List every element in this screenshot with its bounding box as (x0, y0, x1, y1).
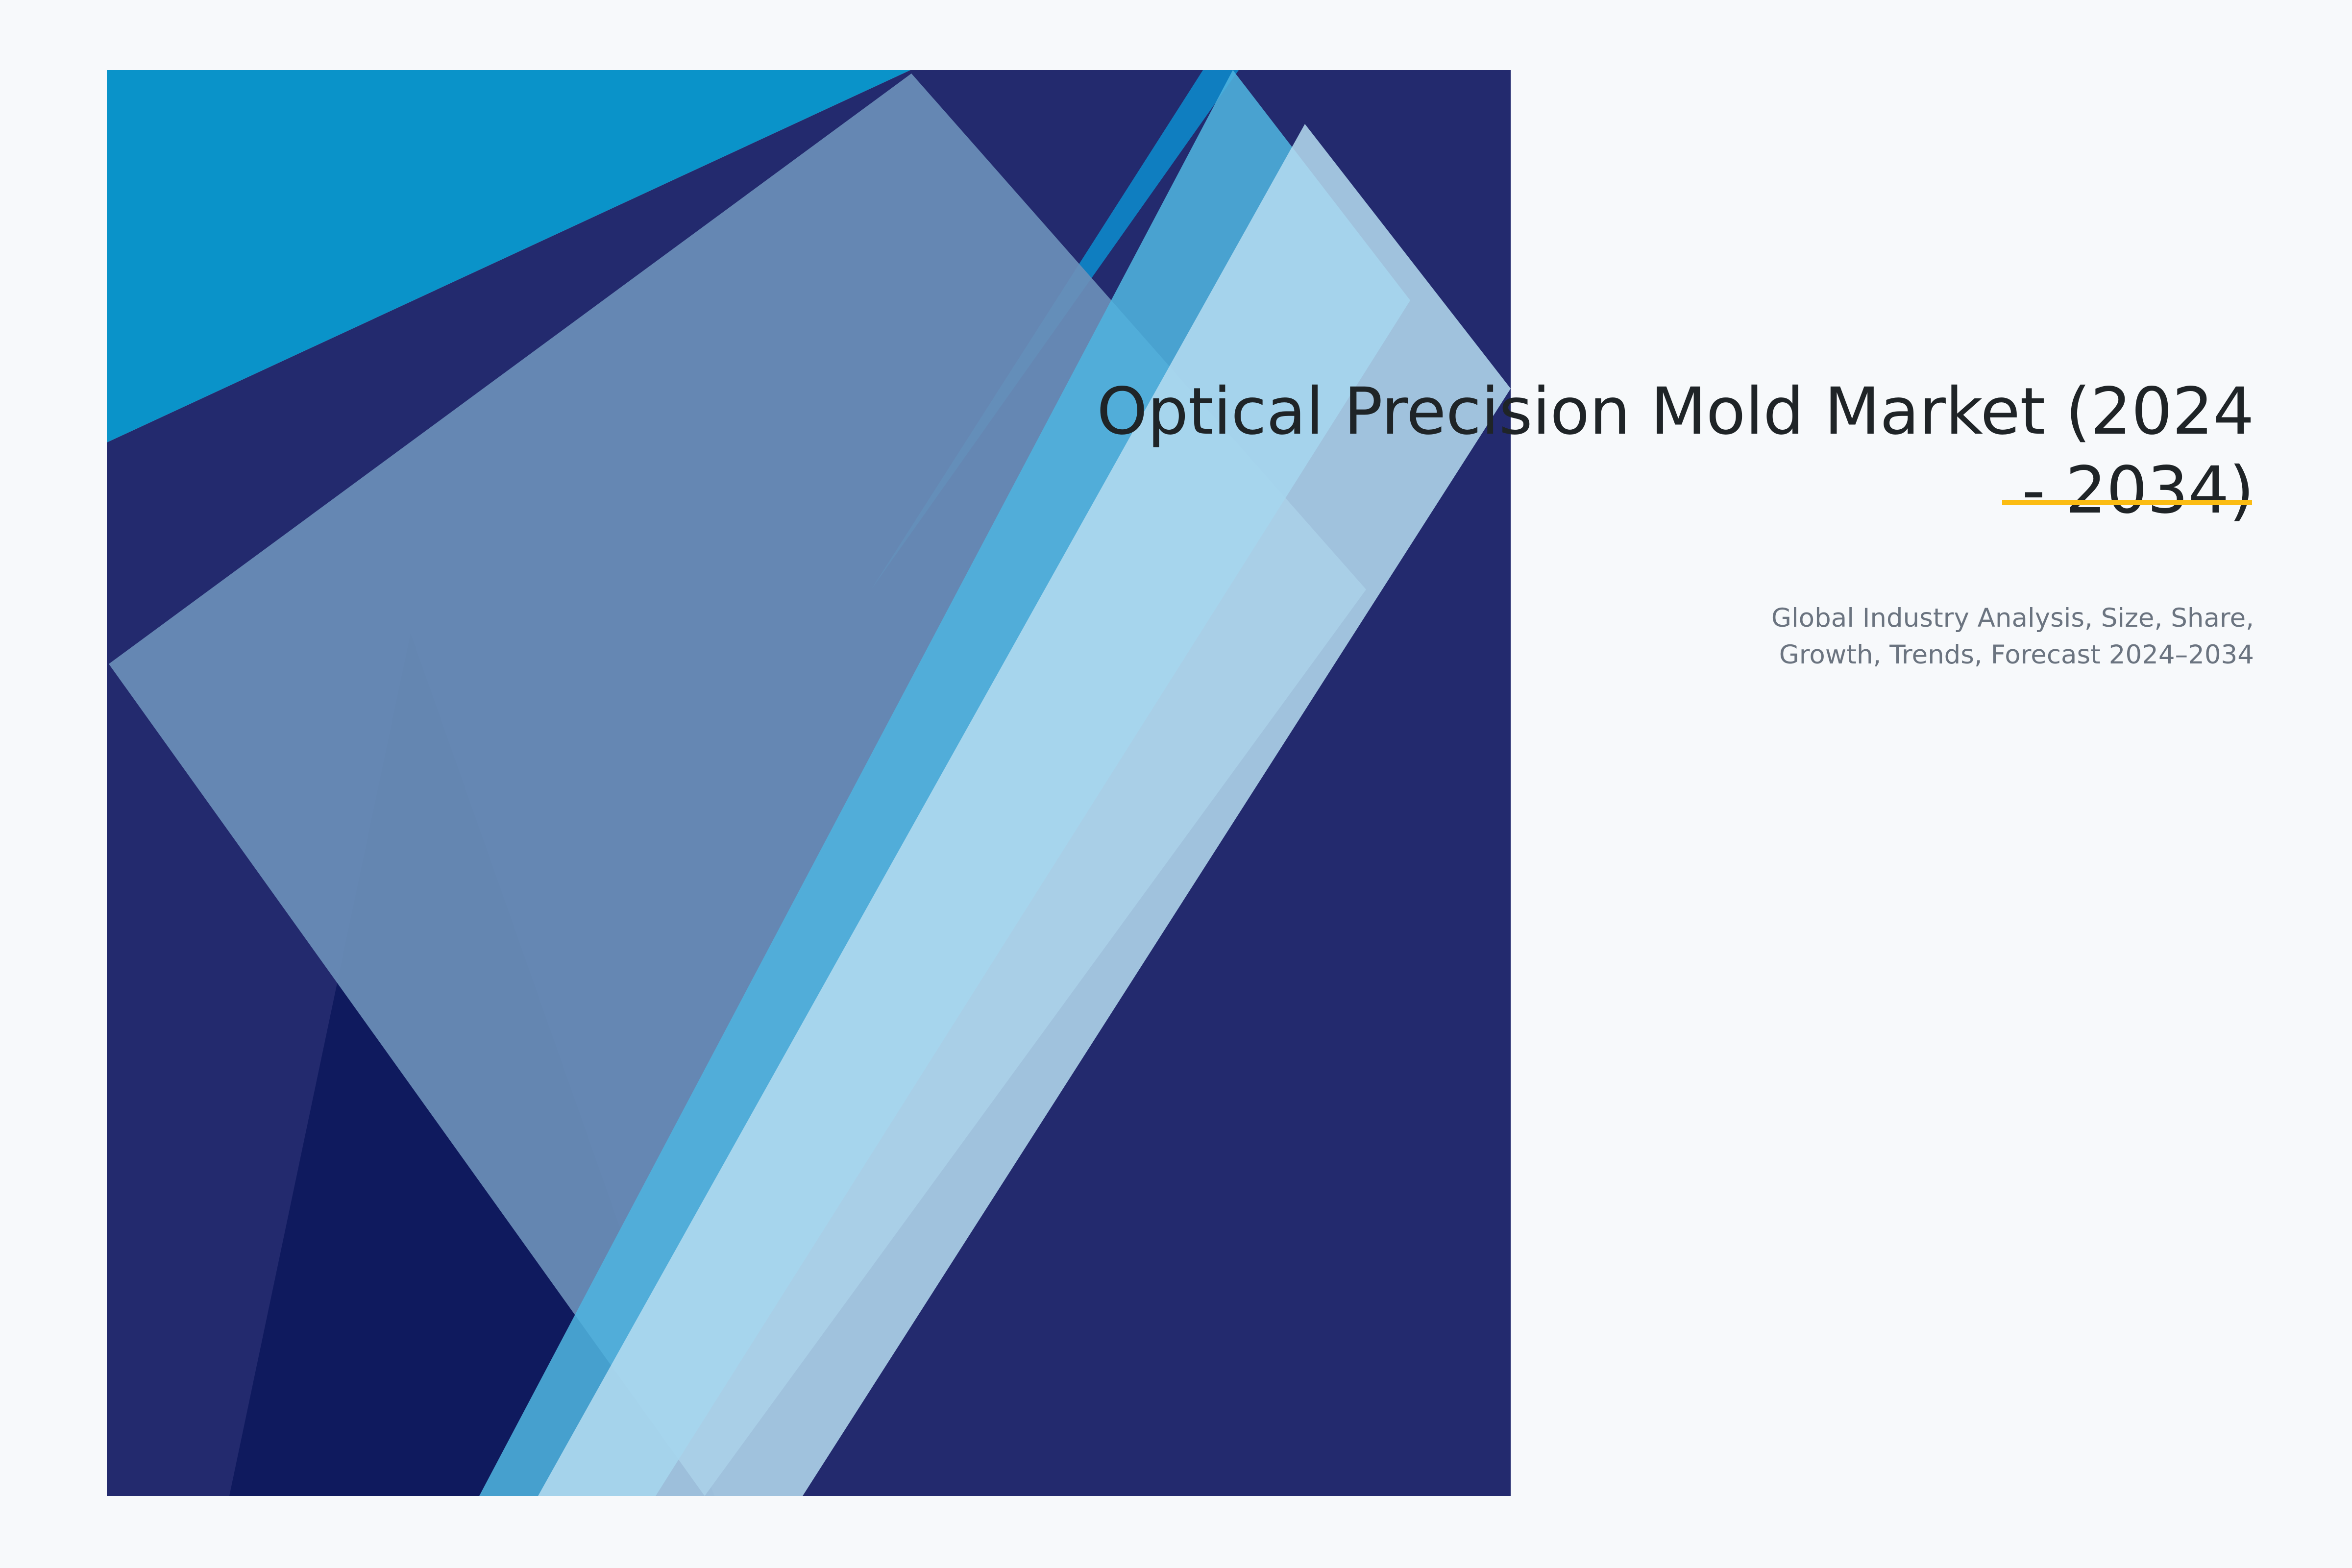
cover-artwork (107, 70, 1511, 1496)
cover-page: Optical Precision Mold Market (2024 - 20… (0, 0, 2352, 1568)
title-accent-bar (2002, 500, 2252, 505)
cover-text-block: Optical Precision Mold Market (2024 - 20… (902, 372, 2254, 674)
page-title: Optical Precision Mold Market (2024 - 20… (902, 372, 2254, 530)
artwork-svg (107, 70, 1511, 1496)
page-subtitle: Global Industry Analysis, Size, Share, G… (902, 530, 2254, 674)
